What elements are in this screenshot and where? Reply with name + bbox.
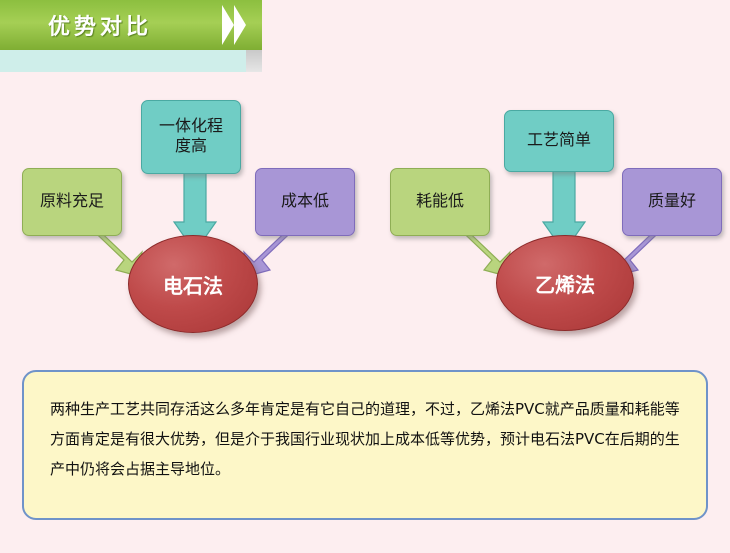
node-right-teal[interactable]: 工艺简单 — [504, 110, 614, 172]
banner-inner: 优势对比 — [0, 0, 262, 50]
node-left-teal-label-line1: 一体化程 — [159, 117, 223, 137]
node-right-teal-label: 工艺简单 — [527, 131, 591, 151]
header-banner: 优势对比 — [0, 0, 262, 50]
center-node-right[interactable]: 乙烯法 — [496, 235, 634, 331]
center-node-left-label: 电石法 — [163, 270, 223, 299]
summary-note-text: 两种生产工艺共同存活这么多年肯定是有它自己的道理，不过，乙烯法PVC就产品质量和… — [50, 394, 680, 484]
node-left-purple[interactable]: 成本低 — [255, 168, 355, 236]
node-left-purple-label: 成本低 — [281, 192, 329, 212]
double-chevron-right-icon-2 — [234, 5, 246, 45]
double-chevron-right-icon — [222, 5, 234, 45]
summary-note: 两种生产工艺共同存活这么多年肯定是有它自己的道理，不过，乙烯法PVC就产品质量和… — [22, 370, 708, 520]
center-node-right-label: 乙烯法 — [535, 269, 595, 298]
node-left-green-label: 原料充足 — [40, 192, 104, 212]
node-right-green-label: 耗能低 — [416, 192, 464, 212]
node-right-purple-label: 质量好 — [648, 192, 696, 212]
node-right-purple[interactable]: 质量好 — [622, 168, 722, 236]
slide-canvas: 优势对比 原料充足 一体化程 度高 成本低 电石法 耗能低 工艺简单 — [0, 0, 730, 553]
node-left-green[interactable]: 原料充足 — [22, 168, 122, 236]
page-title: 优势对比 — [48, 9, 152, 41]
node-left-teal-label-line2: 度高 — [175, 137, 207, 157]
node-left-teal[interactable]: 一体化程 度高 — [141, 100, 241, 174]
banner-underline — [0, 50, 246, 72]
center-node-left[interactable]: 电石法 — [128, 235, 258, 333]
node-right-green[interactable]: 耗能低 — [390, 168, 490, 236]
